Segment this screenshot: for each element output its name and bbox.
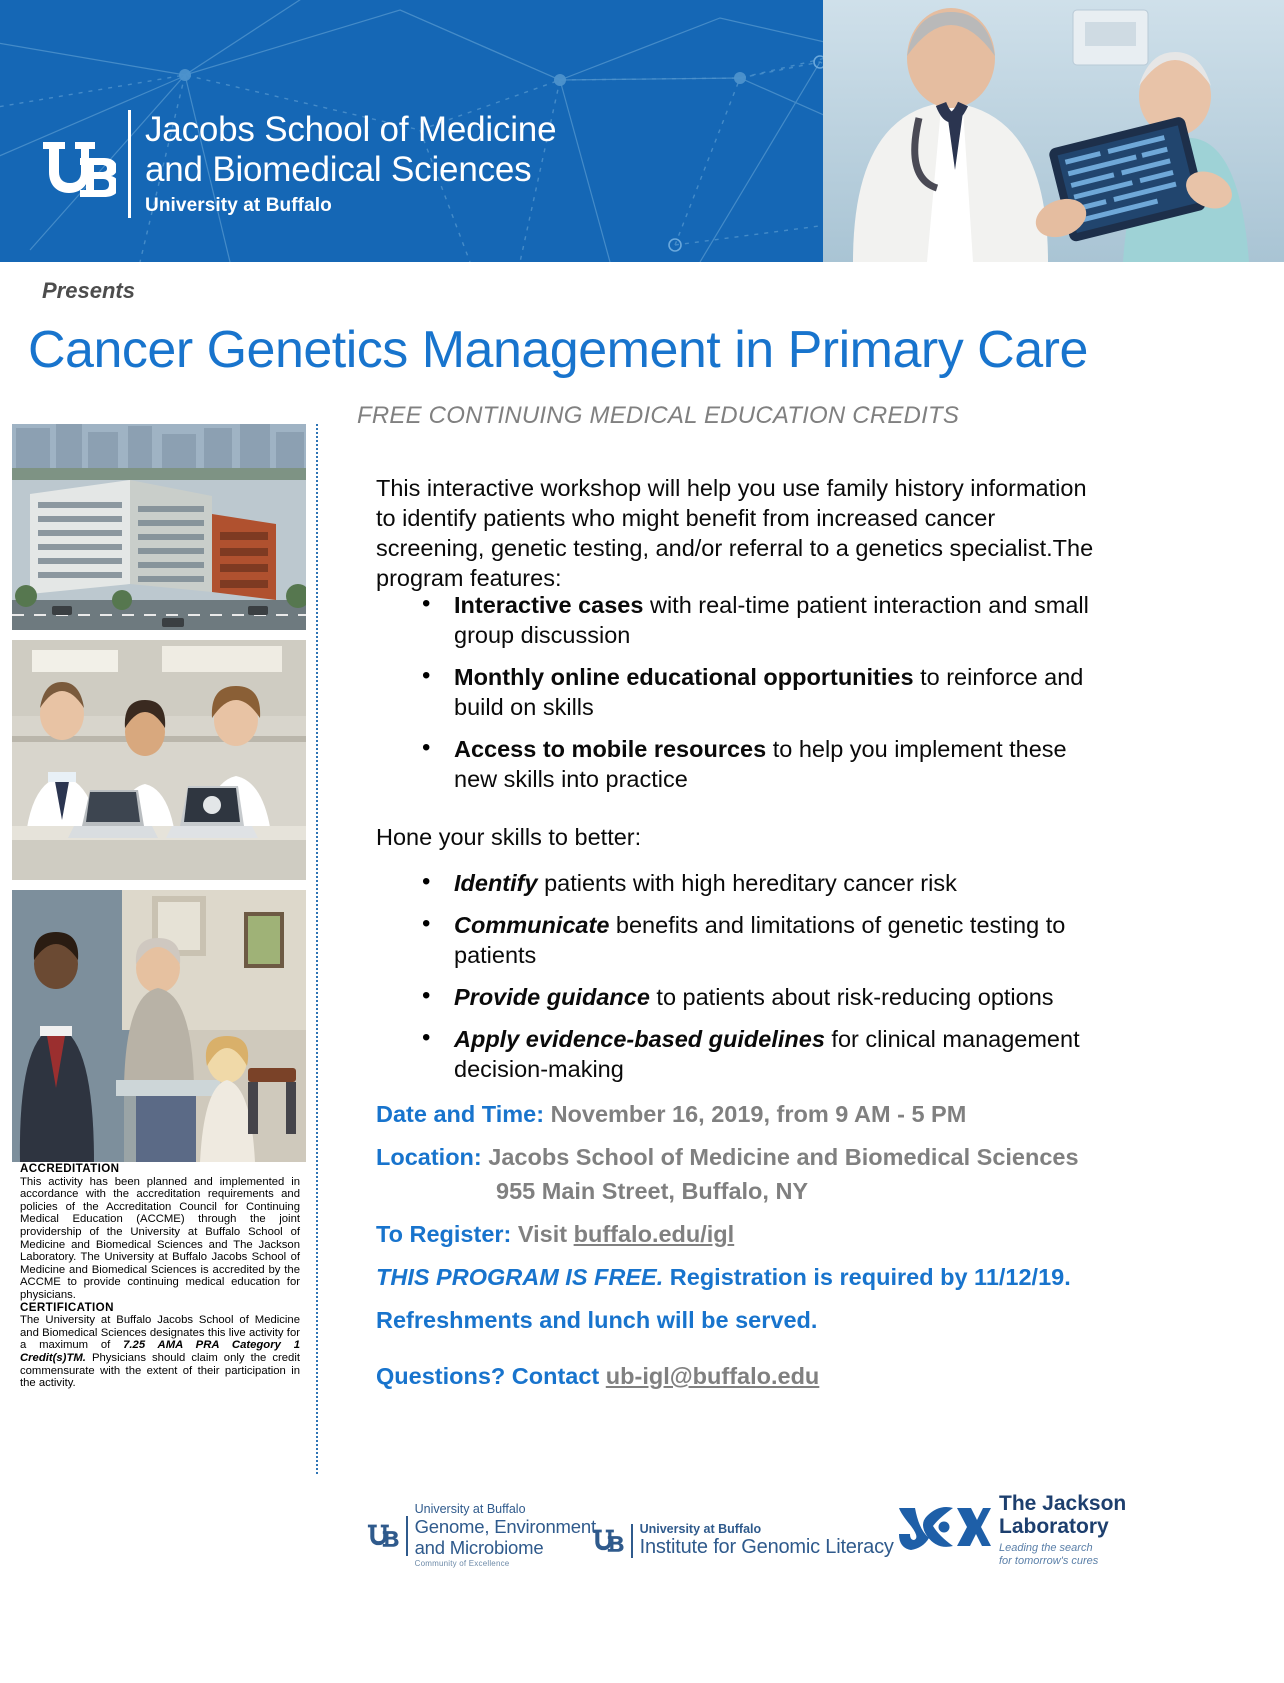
jax-name-line-1: The Jackson [999,1492,1126,1515]
vertical-dotted-divider [316,424,318,1474]
feature-strong: Access to mobile resources [454,736,766,762]
page-subtitle: FREE CONTINUING MEDICAL EDUCATION CREDIT… [357,402,959,430]
date-label: Date and Time: [376,1101,544,1127]
list-item: Communicate benefits and limitations of … [376,910,1091,970]
accreditation-body: This activity has been planned and imple… [20,1176,300,1302]
register-value: Visit [518,1221,567,1247]
skill-strong: Communicate [454,912,609,938]
ub-logo-icon [590,1528,624,1553]
accreditation-block: ACCREDITATION This activity has been pla… [20,1163,300,1390]
detail-register: To Register: Visit buffalo.edu/igl [376,1217,1116,1251]
igl-name-line: Institute for Genomic Literacy [640,1536,894,1559]
list-item: Provide guidance to patients about risk-… [376,982,1091,1012]
register-link[interactable]: buffalo.edu/igl [574,1221,735,1247]
logo-genome-environment-microbiome: University at Buffalo Genome, Environmen… [365,1502,596,1569]
detail-date: Date and Time: November 16, 2019, from 9… [376,1097,1116,1131]
skill-rest: to patients about risk-reducing options [650,984,1054,1010]
questions-label: Questions? Contact [376,1363,599,1389]
ub-logo-icon [365,1523,399,1548]
accreditation-heading: ACCREDITATION [20,1163,300,1176]
presents-label: Presents [42,278,135,304]
list-item: Interactive cases with real-time patient… [376,590,1091,650]
feature-strong: Monthly online educational opportunities [454,664,914,690]
skill-strong: Identify [454,870,538,896]
features-list: Interactive cases with real-time patient… [376,590,1091,806]
skill-strong: Provide guidance [454,984,650,1010]
gem-name-line-1: Genome, Environment [415,1516,596,1537]
photo-clinic [12,890,306,1162]
jax-tagline-2: for tomorrow's cures [999,1555,1126,1568]
detail-refreshments: Refreshments and lunch will be served. [376,1303,1116,1337]
event-details: Date and Time: November 16, 2019, from 9… [376,1097,1116,1402]
header-banner: Jacobs School of Medicine and Biomedical… [0,0,1284,262]
list-item: Apply evidence-based guidelines for clin… [376,1024,1091,1084]
skill-rest: patients with high hereditary cancer ris… [538,870,957,896]
footer-logos: University at Buffalo Genome, Environmen… [355,1490,1175,1610]
logo-line-2: and Biomedical Sciences [145,150,556,190]
jax-mark-icon [895,1500,991,1561]
hone-skills-lead: Hone your skills to better: [376,822,641,852]
location-value: Jacobs School of Medicine and Biomedical… [488,1144,1078,1170]
questions-email-link[interactable]: ub-igl@buffalo.edu [606,1363,820,1389]
certification-body: The University at Buffalo Jacobs School … [20,1314,300,1390]
register-label: To Register: [376,1221,511,1247]
photo-team [12,640,306,880]
gem-university-line: University at Buffalo [415,1502,596,1516]
free-emphasis: THIS PROGRAM IS FREE. [376,1264,663,1290]
detail-questions: Questions? Contact ub-igl@buffalo.edu [376,1359,1116,1393]
logo-divider [406,1516,408,1556]
refreshments-text: Refreshments and lunch will be served. [376,1307,817,1333]
header-blue-panel: Jacobs School of Medicine and Biomedical… [0,0,903,262]
logo-divider [128,110,131,218]
logo-subline: University at Buffalo [145,195,556,217]
flyer-page: Jacobs School of Medicine and Biomedical… [0,0,1284,1683]
page-title: Cancer Genetics Management in Primary Ca… [28,320,1088,380]
skill-strong: Apply evidence-based guidelines [454,1026,825,1052]
logo-divider [631,1524,633,1558]
logo-institute-genomic-literacy: University at Buffalo Institute for Geno… [590,1522,894,1559]
free-rest: Registration is required by 11/12/19. [663,1264,1071,1290]
jacobs-school-logo: Jacobs School of Medicine and Biomedical… [40,110,556,218]
gem-tagline: Community of Excellence [415,1558,596,1569]
igl-university-line: University at Buffalo [640,1522,894,1536]
date-value: November 16, 2019, from 9 AM - 5 PM [551,1101,967,1127]
list-item: Monthly online educational opportunities… [376,662,1091,722]
jax-name-line-2: Laboratory [999,1515,1126,1538]
ub-logo-icon [40,138,116,200]
intro-paragraph: This interactive workshop will help you … [376,473,1106,593]
header-photo [823,0,1284,262]
feature-strong: Interactive cases [454,592,643,618]
gem-name-line-2: and Microbiome [415,1537,596,1558]
jax-tagline-1: Leading the search [999,1542,1126,1555]
detail-location: Location: Jacobs School of Medicine and … [376,1140,1116,1208]
logo-line-1: Jacobs School of Medicine [145,110,556,150]
certification-heading: CERTIFICATION [20,1302,300,1315]
detail-free: THIS PROGRAM IS FREE. Registration is re… [376,1260,1116,1294]
skills-list: Identify patients with high hereditary c… [376,868,1091,1096]
photo-building [12,424,306,630]
list-item: Access to mobile resources to help you i… [376,734,1091,794]
logo-jackson-laboratory: The Jackson Laboratory Leading the searc… [895,1492,1126,1568]
location-value-line2: 955 Main Street, Buffalo, NY [376,1174,1116,1208]
list-item: Identify patients with high hereditary c… [376,868,1091,898]
location-label: Location: [376,1144,482,1170]
